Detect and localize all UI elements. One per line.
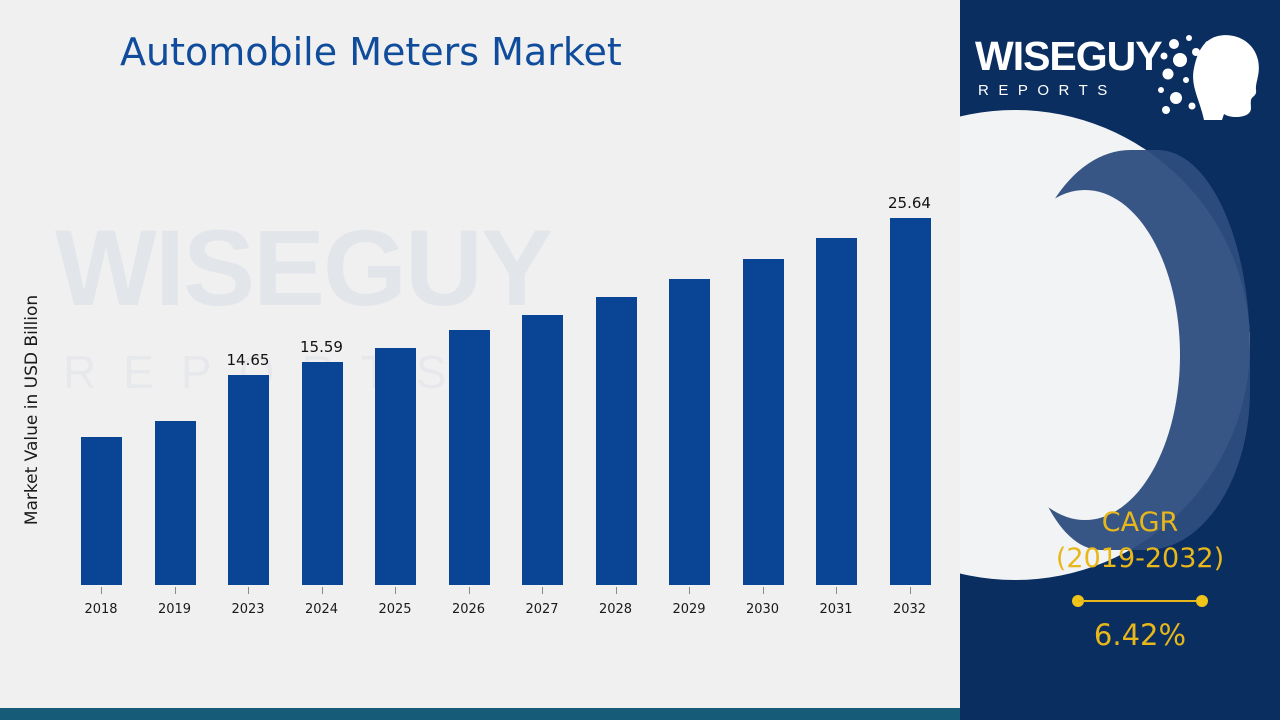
bar [596, 297, 637, 585]
head-silhouette-cutout [990, 190, 1180, 520]
logo-secondary-text: REPORTS [978, 82, 1117, 99]
x-axis-tick [248, 587, 249, 594]
bar-series: 2018201914.65202315.59202420252026202720… [56, 120, 936, 585]
divider-line [1078, 600, 1202, 602]
divider-dot-right [1196, 595, 1208, 607]
bar [890, 218, 931, 585]
bar [375, 348, 416, 586]
cagr-value: 6.42% [1000, 617, 1280, 653]
bar [155, 421, 196, 585]
x-axis-tick [763, 587, 764, 594]
bar-value-label: 15.59 [277, 338, 367, 356]
x-axis-tick [910, 587, 911, 594]
bar-value-label: 25.64 [865, 194, 955, 212]
x-axis-tick [469, 587, 470, 594]
bar [449, 330, 490, 585]
x-axis-tick [836, 587, 837, 594]
wiseguy-reports-logo: WISEGUY REPORTS [970, 30, 1270, 125]
bar [228, 375, 269, 585]
y-axis-label: Market Value in USD Billion [22, 160, 42, 660]
cagr-range: (2019-2032) [1000, 541, 1280, 577]
logo-primary-text: WISEGUY [975, 33, 1162, 80]
x-axis-tick [322, 587, 323, 594]
x-axis-tick [395, 587, 396, 594]
x-axis-tick [689, 587, 690, 594]
cagr-divider [1000, 591, 1280, 611]
bar [81, 437, 122, 585]
market-report-infographic: Automobile Meters Market WISEGUY REPORTS… [0, 0, 1280, 720]
footer-accent-bar [0, 708, 960, 720]
x-axis-tick [175, 587, 176, 594]
bar-chart: Market Value in USD Billion 2018201914.6… [0, 0, 960, 720]
bar [522, 315, 563, 585]
bar [743, 259, 784, 585]
x-axis-tick [101, 587, 102, 594]
bar [302, 362, 343, 585]
cagr-label: CAGR [1000, 505, 1280, 541]
bar [816, 238, 857, 585]
x-axis-tick [542, 587, 543, 594]
x-axis-tick [616, 587, 617, 594]
cagr-summary: CAGR (2019-2032) 6.42% [1000, 505, 1280, 653]
head-dots-icon [1156, 30, 1266, 120]
bar [669, 279, 710, 585]
x-axis-tick-label: 2032 [865, 602, 955, 617]
